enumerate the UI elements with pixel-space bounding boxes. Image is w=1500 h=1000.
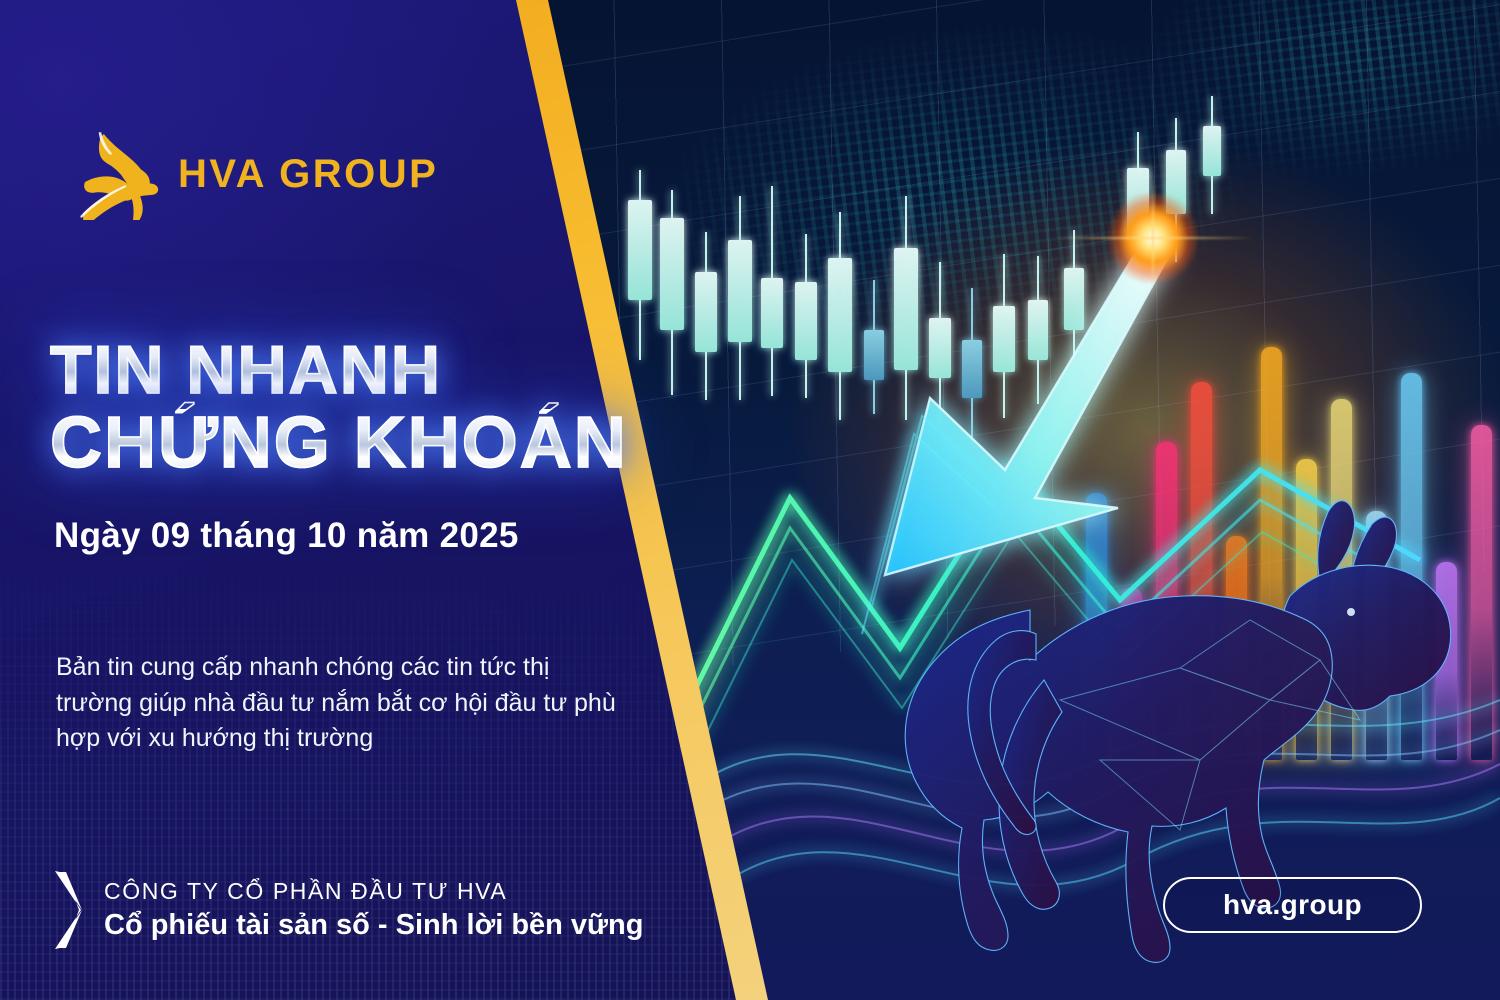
brand-logo[interactable]: HVA GROUP: [78, 128, 438, 220]
footer-company: CÔNG TY CỔ PHẦN ĐẦU TƯ HVA: [104, 878, 644, 905]
website-badge[interactable]: hva.group: [1163, 877, 1422, 933]
gazelle-logo-icon: [78, 128, 164, 220]
brand-name: HVA GROUP: [178, 152, 438, 197]
left-content: HVA GROUP TIN NHANH CHỨNG KHOÁN Ngày 09 …: [0, 0, 700, 1000]
footer-tagline: Cổ phiếu tài sản số - Sinh lời bền vững: [104, 909, 644, 942]
publish-date: Ngày 09 tháng 10 năm 2025: [54, 516, 519, 556]
headline-line-1: TIN NHANH: [50, 338, 650, 403]
description-text: Bản tin cung cấp nhanh chóng các tin tức…: [56, 650, 616, 757]
page-title: TIN NHANH CHỨNG KHOÁN: [50, 338, 650, 478]
footer-block: CÔNG TY CỔ PHẦN ĐẦU TƯ HVA Cổ phiếu tài …: [52, 868, 644, 952]
headline-line-2: CHỨNG KHOÁN: [50, 409, 650, 478]
stock-news-poster: HVA GROUP TIN NHANH CHỨNG KHOÁN Ngày 09 …: [0, 0, 1500, 1000]
chevron-right-icon: [52, 868, 86, 952]
